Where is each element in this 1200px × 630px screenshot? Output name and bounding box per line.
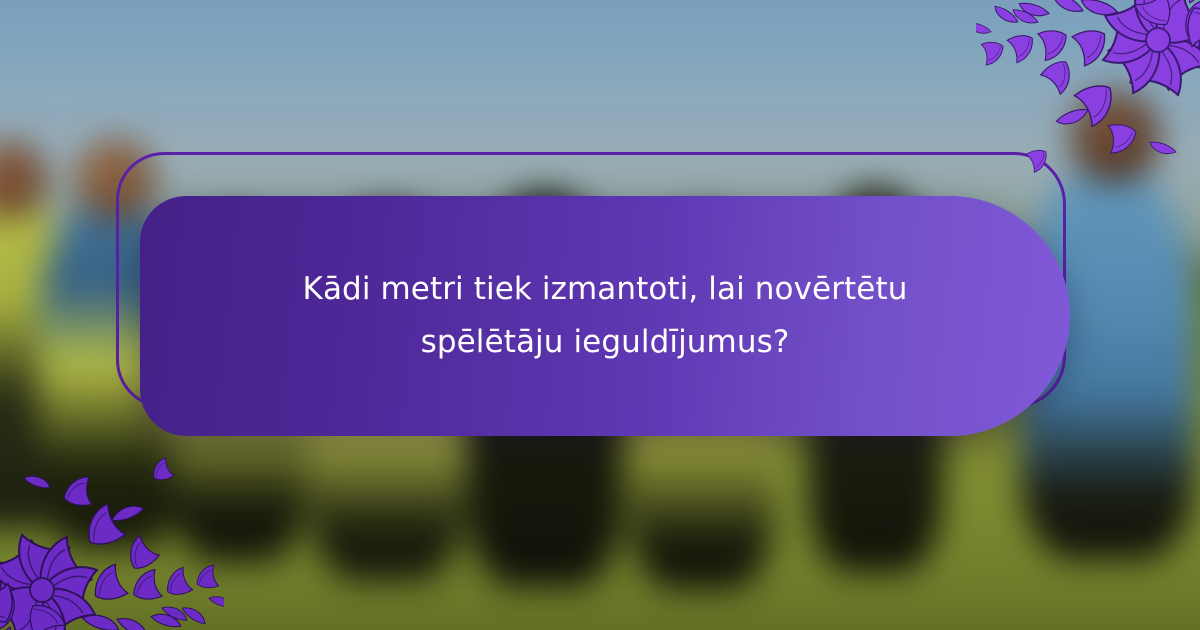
question-card: Kādi metri tiek izmantoti, lai novērtētu… <box>140 196 1070 436</box>
question-text: Kādi metri tiek izmantoti, lai novērtētu… <box>255 263 955 368</box>
screenshot-canvas: Kādi metri tiek izmantoti, lai novērtētu… <box>0 0 1200 630</box>
person-head-right <box>1070 91 1159 183</box>
